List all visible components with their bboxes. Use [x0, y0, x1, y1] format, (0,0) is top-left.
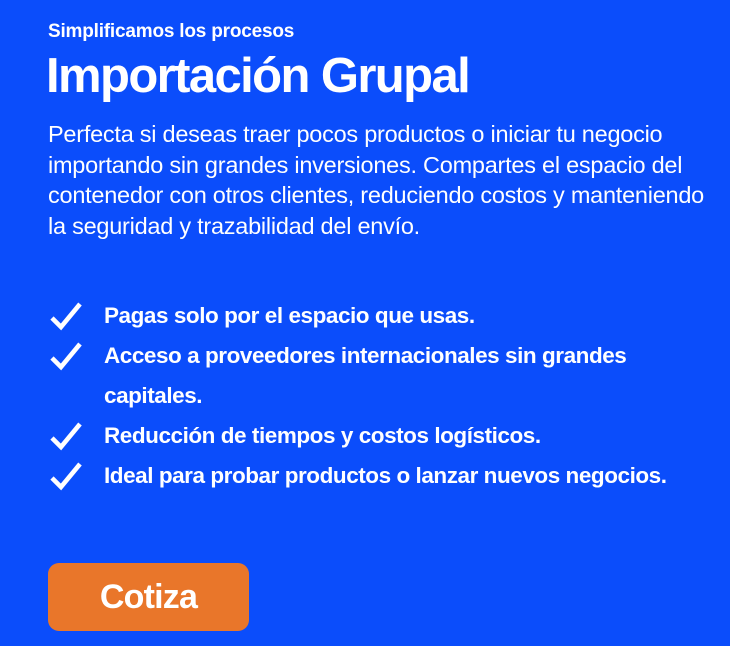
benefits-list: Pagas solo por el espacio que usas. Acce… [48, 296, 708, 496]
check-icon [48, 456, 84, 496]
check-icon [48, 336, 84, 376]
list-item-label: Pagas solo por el espacio que usas. [104, 296, 708, 336]
check-icon [48, 296, 84, 336]
list-item-label: Reducción de tiempos y costos logísticos… [104, 416, 708, 456]
promo-banner: Simplificamos los procesos Importación G… [0, 0, 730, 646]
page-title: Importación Grupal [46, 48, 469, 104]
list-item-label: Ideal para probar productos o lanzar nue… [104, 456, 708, 496]
eyebrow-text: Simplificamos los procesos [48, 20, 294, 44]
list-item-label: Acceso a proveedores internacionales sin… [104, 336, 708, 416]
quote-button[interactable]: Cotiza [48, 563, 249, 631]
list-item: Reducción de tiempos y costos logísticos… [48, 416, 708, 456]
check-icon [48, 416, 84, 456]
list-item: Ideal para probar productos o lanzar nue… [48, 456, 708, 496]
description-text: Perfecta si deseas traer pocos productos… [48, 119, 704, 241]
list-item: Acceso a proveedores internacionales sin… [48, 336, 708, 416]
list-item: Pagas solo por el espacio que usas. [48, 296, 708, 336]
